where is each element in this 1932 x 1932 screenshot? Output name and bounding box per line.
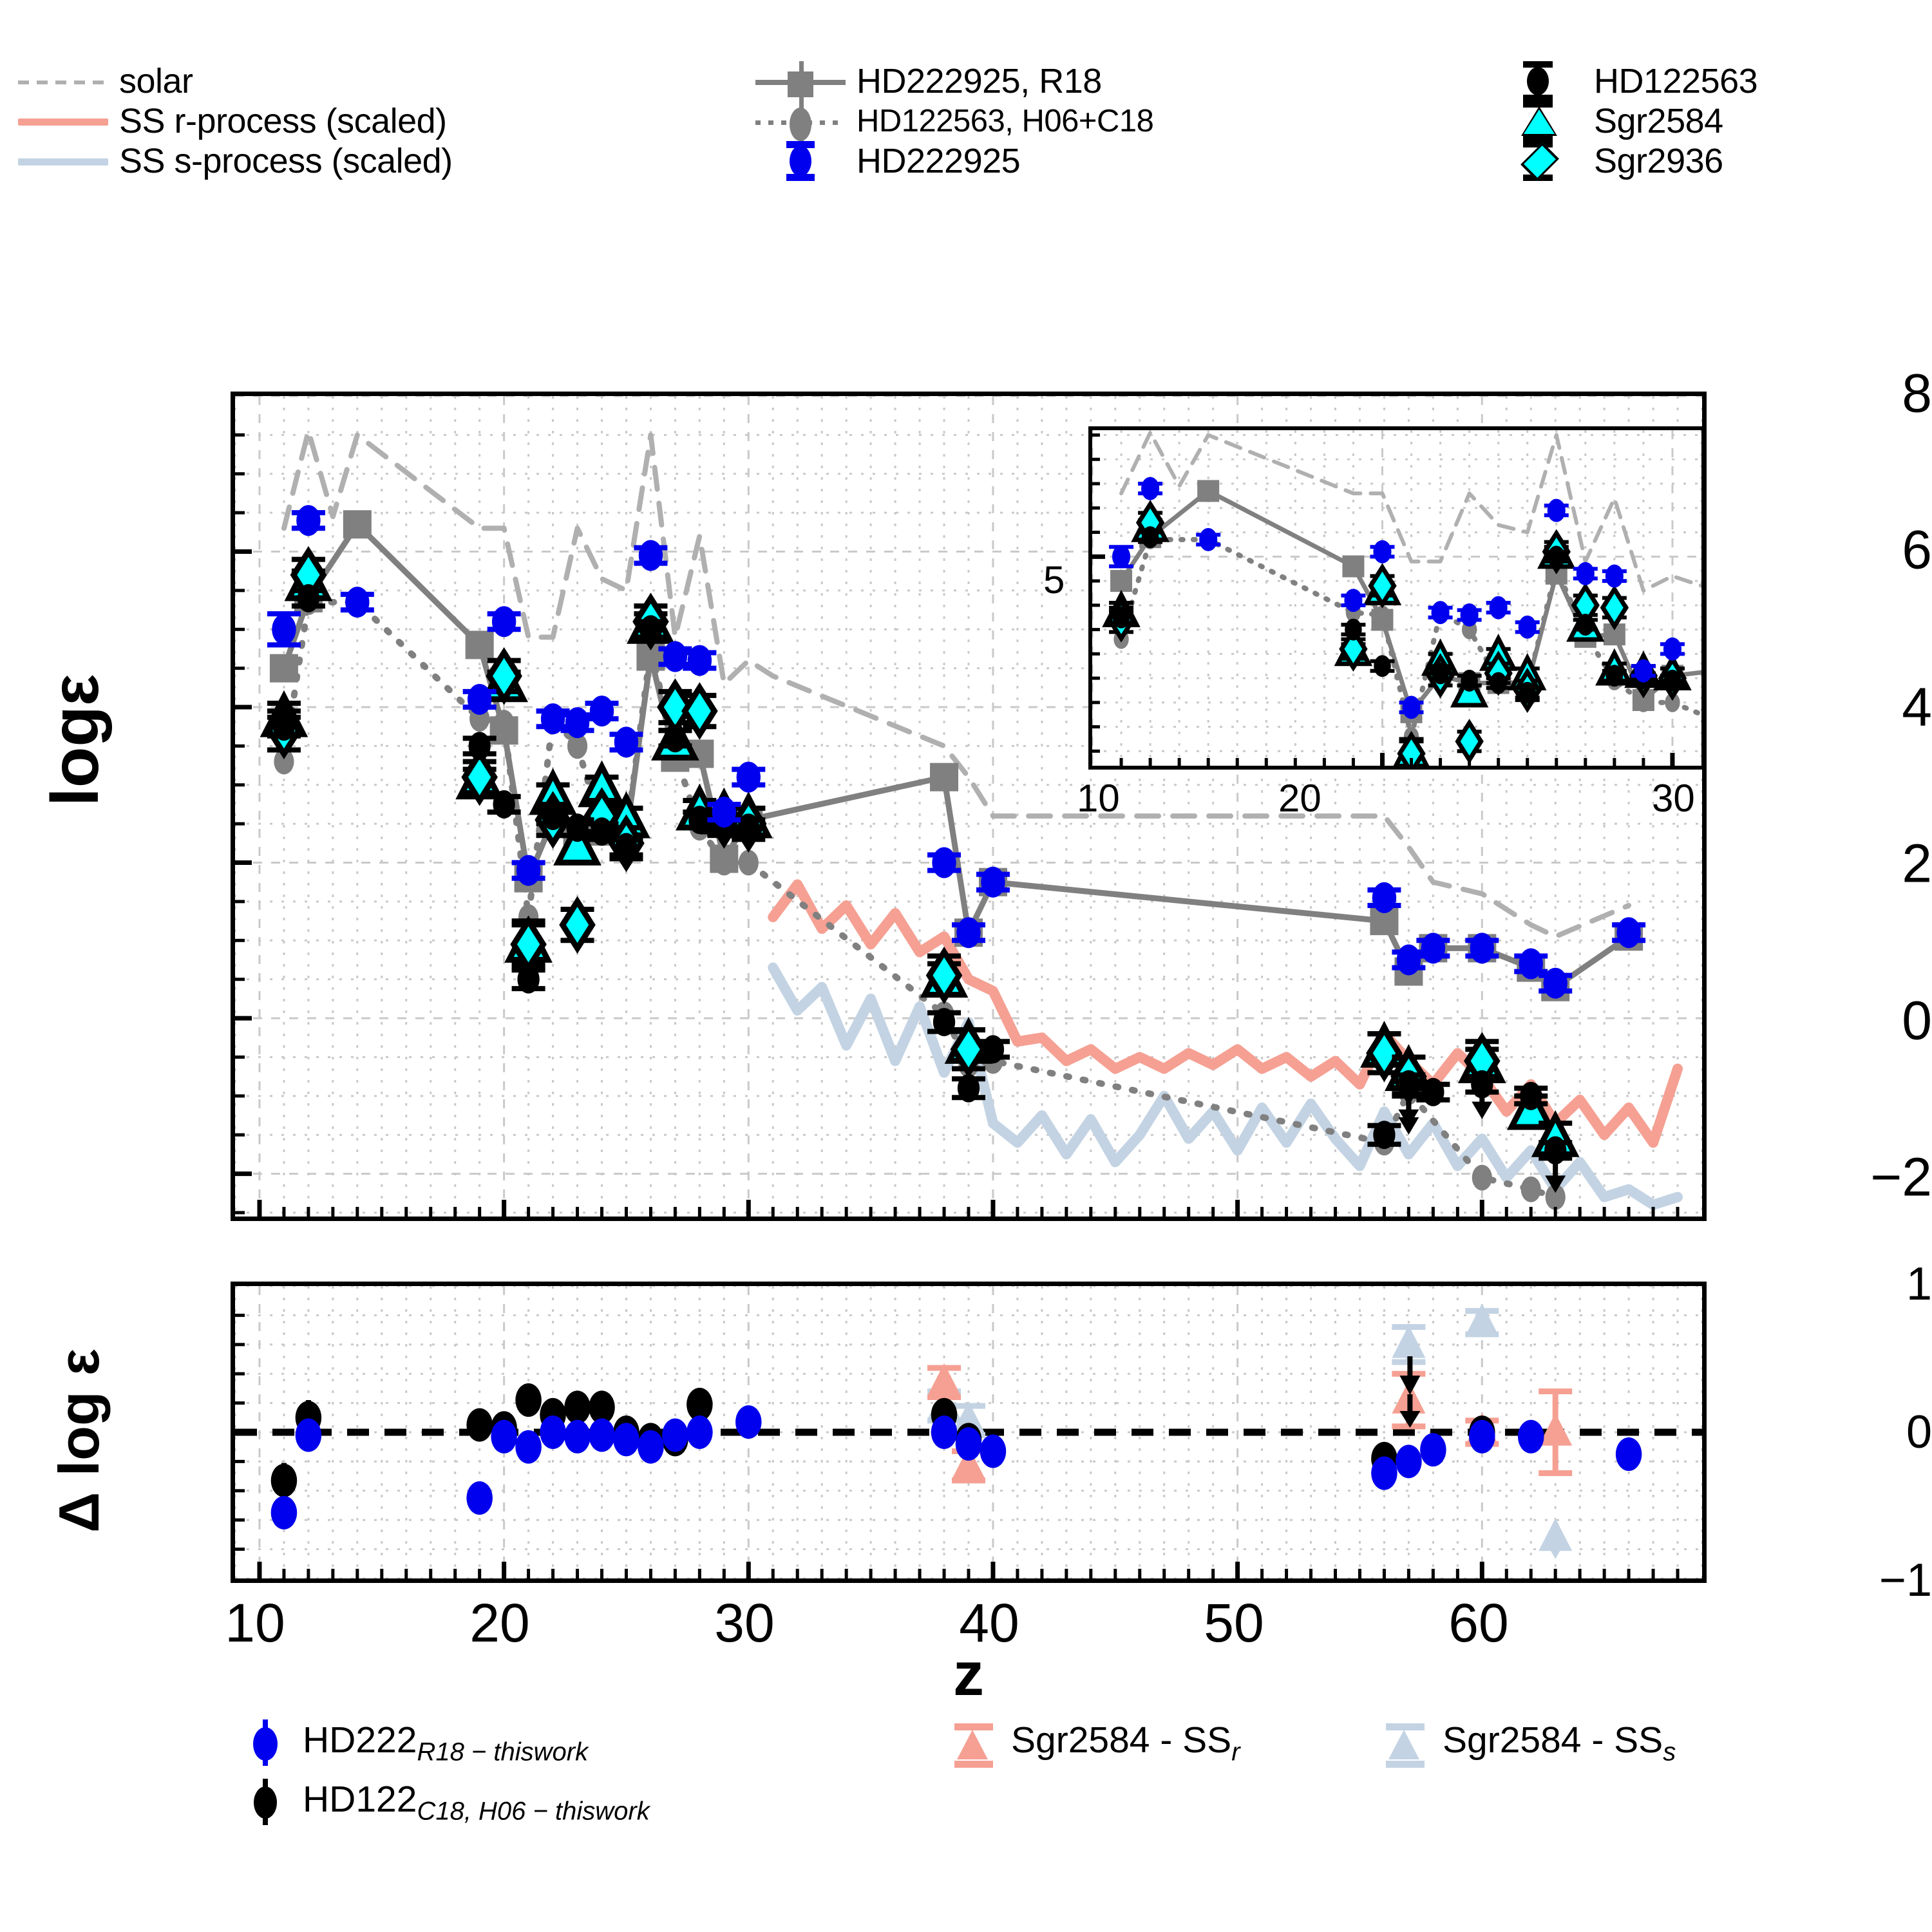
legend-label-sgr2584: Sgr2584 <box>1594 101 1723 141</box>
bl3-main: Sgr2584 - SS <box>1011 1719 1231 1761</box>
bl4-main: Sgr2584 - SS <box>1443 1719 1663 1761</box>
bottom-legend-label-sgr2584-sss: Sgr2584 - SSs <box>1443 1719 1676 1766</box>
bottom-legend-item-hd222: HD222R18 − thiswork <box>232 1713 650 1772</box>
r-process-line-swatch <box>6 101 119 141</box>
cyan-triangle-icon <box>1481 101 1594 141</box>
legend-item-ss-s-process: SS s-process (scaled) <box>6 141 453 181</box>
legend-label-ss-s-process: SS s-process (scaled) <box>119 141 453 181</box>
bottom-legend-item-sgr2584-ssr: Sgr2584 - SSr <box>940 1713 1240 1772</box>
legend-label-hd122563-h06c18: HD122563, H06+C18 <box>857 103 1153 139</box>
bottom-legend-label-sgr2584-ssr: Sgr2584 - SSr <box>1011 1719 1240 1766</box>
bottom-legend-label-hd122: HD122C18, H06 − thiswork <box>303 1778 650 1826</box>
inset-plot-svg <box>1092 430 1701 766</box>
legend-column-3: HD122563 Sgr2584 Sgr2936 <box>1481 61 1757 181</box>
black-errorbar-circle-icon <box>1481 61 1594 101</box>
legend-item-sgr2584: Sgr2584 <box>1481 101 1757 141</box>
residual-y-axis-title: Δ log ε <box>46 1349 112 1533</box>
legend-column-1: solar SS r-process (scaled) SS s-process… <box>6 61 453 181</box>
bottom-legend-column-3: Sgr2584 - SSs <box>1372 1713 1676 1772</box>
legend-label-solar: solar <box>119 61 193 101</box>
legend-label-hd122563: HD122563 <box>1594 61 1757 101</box>
legend-label-hd222925-r18: HD222925, R18 <box>857 61 1102 101</box>
blue-errorbar-circle-icon <box>744 141 857 181</box>
bl1-main: HD222 <box>303 1719 417 1761</box>
bottom-legend-column-1: HD222R18 − thiswork HD122C18, H06 − this… <box>232 1713 650 1832</box>
square-marker-icon <box>744 61 857 101</box>
bottom-legend-item-hd122: HD122C18, H06 − thiswork <box>232 1772 650 1832</box>
bottom-legend-item-sgr2584-sss: Sgr2584 - SSs <box>1372 1713 1676 1772</box>
bottom-legend: HD222R18 − thiswork HD122C18, H06 − this… <box>0 1713 1932 1880</box>
legend-item-hd222925-r18: HD222925, R18 <box>744 61 1153 101</box>
bottom-legend-label-hd222: HD222R18 − thiswork <box>303 1719 588 1766</box>
s-process-line-swatch <box>6 141 119 181</box>
circle-dotted-marker-icon <box>744 101 857 141</box>
main-y-axis-title: logε <box>37 674 114 806</box>
legend-label-sgr2936: Sgr2936 <box>1594 141 1723 181</box>
legend-item-sgr2936: Sgr2936 <box>1481 141 1757 181</box>
legend-column-2: HD222925, R18 HD122563, H06+C18 HD222925 <box>744 61 1153 181</box>
top-legend: solar SS r-process (scaled) SS s-process… <box>0 61 1932 190</box>
residual-plot-panel <box>231 1282 1707 1583</box>
legend-label-hd222925: HD222925 <box>857 141 1020 181</box>
legend-item-hd122563-h06c18: HD122563, H06+C18 <box>744 101 1153 141</box>
salmon-triangle-icon <box>940 1713 1011 1772</box>
residual-plot-svg <box>235 1286 1702 1578</box>
cyan-diamond-icon <box>1481 141 1594 181</box>
bl3-sub: r <box>1231 1738 1240 1766</box>
bl1-sub: R18 − thiswork <box>417 1738 588 1766</box>
legend-item-hd122563: HD122563 <box>1481 61 1757 101</box>
legend-item-solar: solar <box>6 61 453 101</box>
steelblue-triangle-icon <box>1372 1713 1443 1772</box>
black-circle-icon <box>232 1772 303 1832</box>
bl2-main: HD122 <box>303 1779 417 1820</box>
blue-circle-icon <box>232 1713 303 1772</box>
x-axis-title: z <box>953 1639 984 1710</box>
legend-item-hd222925: HD222925 <box>744 141 1153 181</box>
bottom-legend-column-2: Sgr2584 - SSr <box>940 1713 1240 1772</box>
inset-plot-panel <box>1088 426 1705 770</box>
legend-item-ss-r-process: SS r-process (scaled) <box>6 101 453 141</box>
bl4-sub: s <box>1663 1738 1676 1766</box>
bl2-sub: C18, H06 − thiswork <box>417 1797 649 1825</box>
solar-line-swatch <box>6 61 119 101</box>
legend-label-ss-r-process: SS r-process (scaled) <box>119 101 447 141</box>
